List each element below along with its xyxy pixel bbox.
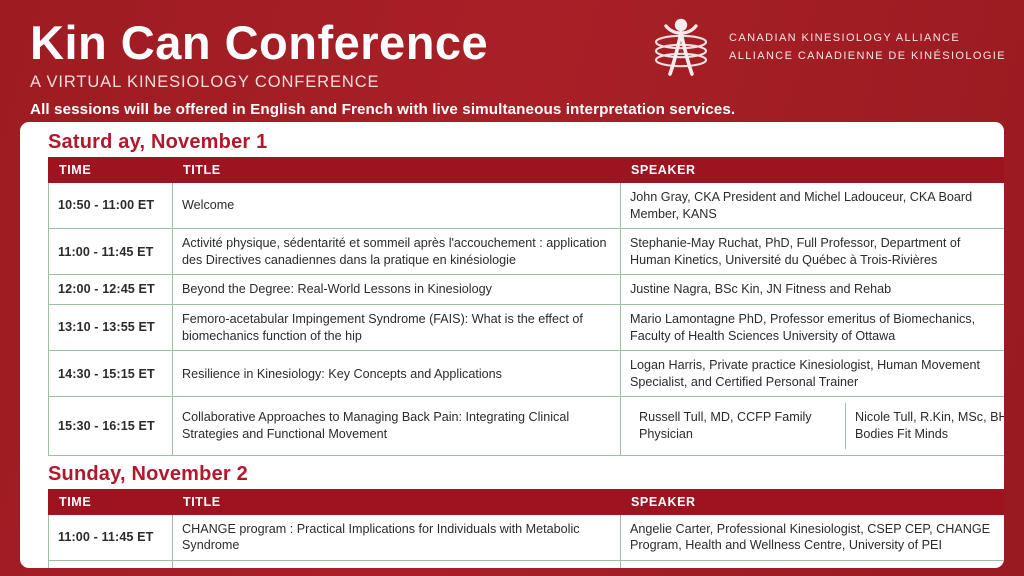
column-header-speaker: SPEAKER xyxy=(621,158,1005,183)
session-title: Activité physique, sédentarité et sommei… xyxy=(173,229,621,275)
session-time: 15:30 - 16:15 ET xyxy=(49,397,173,455)
schedule-card: Saturd ay, November 1 TIME TITLE SPEAKER… xyxy=(20,122,1004,568)
column-header-title: TITLE xyxy=(173,158,621,183)
interpretation-notice: All sessions will be offered in English … xyxy=(30,101,1000,118)
logo-line-en: CANADIAN KINESIOLOGY ALLIANCE xyxy=(729,29,1006,47)
session-time: 14:30 - 15:15 ET xyxy=(49,351,173,397)
session-title: Resilience in Kinesiology: Key Concepts … xyxy=(173,351,621,397)
session-speaker: Angelie Carter, Professional Kinesiologi… xyxy=(621,514,1005,560)
session-speaker: Justine Nagra, BSc Kin, JN Fitness and R… xyxy=(621,275,1005,305)
table-row: 14:30 - 15:15 ET Resilience in Kinesiolo… xyxy=(49,351,1005,397)
kinesiology-figure-icon xyxy=(645,16,717,78)
column-header-speaker: SPEAKER xyxy=(621,489,1005,514)
session-speaker: Antoine Vanderstichelen – Exercise Thera… xyxy=(621,560,1005,568)
table-row: 11:00 - 11:45 ET CHANGE program : Practi… xyxy=(49,514,1005,560)
table-row: 15:30 - 16:15 ET Collaborative Approache… xyxy=(49,397,1005,455)
conference-schedule-poster: Kin Can Conference A VIRTUAL KINESIOLOGY… xyxy=(0,0,1024,576)
session-time: 11:00 - 11:45 ET xyxy=(49,229,173,275)
logo-line-fr: ALLIANCE CANADIENNE DE KINÉSIOLOGIE xyxy=(729,47,1006,65)
session-speaker: Mario Lamontagne PhD, Professor emeritus… xyxy=(621,305,1005,351)
session-time: 10:50 - 11:00 ET xyxy=(49,183,173,229)
day-title-saturday: Saturd ay, November 1 xyxy=(34,128,994,157)
schedule-table-saturday: TIME TITLE SPEAKER 10:50 - 11:00 ET Welc… xyxy=(48,157,1004,456)
table-row: 13:10 - 13:55 ET Femoro-acetabular Impin… xyxy=(49,305,1005,351)
session-speaker: Stephanie-May Ruchat, PhD, Full Professo… xyxy=(621,229,1005,275)
column-header-time: TIME xyxy=(49,158,173,183)
column-header-time: TIME xyxy=(49,489,173,514)
logo-wordmark: CANADIAN KINESIOLOGY ALLIANCE ALLIANCE C… xyxy=(729,29,1006,65)
session-time: 13:10 - 13:55 ET xyxy=(49,305,173,351)
session-speaker-split: Russell Tull, MD, CCFP Family Physician … xyxy=(621,397,1005,455)
cka-logo: CANADIAN KINESIOLOGY ALLIANCE ALLIANCE C… xyxy=(645,16,1006,78)
table-row: 12:00 - 12:45 ET The Value of Postural A… xyxy=(49,560,1005,568)
table-row: 12:00 - 12:45 ET Beyond the Degree: Real… xyxy=(49,275,1005,305)
session-title: The Value of Postural Analysis for Kines… xyxy=(173,560,621,568)
session-title: Femoro-acetabular Impingement Syndrome (… xyxy=(173,305,621,351)
session-speaker: Logan Harris, Private practice Kinesiolo… xyxy=(621,351,1005,397)
session-title: CHANGE program : Practical Implications … xyxy=(173,514,621,560)
session-speaker-primary: Russell Tull, MD, CCFP Family Physician xyxy=(630,403,846,448)
table-row: 11:00 - 11:45 ET Activité physique, séde… xyxy=(49,229,1005,275)
table-header-row: TIME TITLE SPEAKER xyxy=(49,489,1005,514)
session-title: Collaborative Approaches to Managing Bac… xyxy=(173,397,621,455)
day-title-sunday: Sunday, November 2 xyxy=(34,456,994,489)
session-time: 12:00 - 12:45 ET xyxy=(49,275,173,305)
session-time: 11:00 - 11:45 ET xyxy=(49,514,173,560)
session-speaker: John Gray, CKA President and Michel Lado… xyxy=(621,183,1005,229)
table-row: 10:50 - 11:00 ET Welcome John Gray, CKA … xyxy=(49,183,1005,229)
session-time: 12:00 - 12:45 ET xyxy=(49,560,173,568)
schedule-table-sunday: TIME TITLE SPEAKER 11:00 - 11:45 ET CHAN… xyxy=(48,489,1004,568)
column-header-title: TITLE xyxy=(173,489,621,514)
table-header-row: TIME TITLE SPEAKER xyxy=(49,158,1005,183)
poster-header: Kin Can Conference A VIRTUAL KINESIOLOGY… xyxy=(0,0,1024,122)
session-speaker-secondary: Nicole Tull, R.Kin, MSc, BHK Fit Bodies … xyxy=(846,403,1005,448)
session-title: Beyond the Degree: Real-World Lessons in… xyxy=(173,275,621,305)
session-title: Welcome xyxy=(173,183,621,229)
